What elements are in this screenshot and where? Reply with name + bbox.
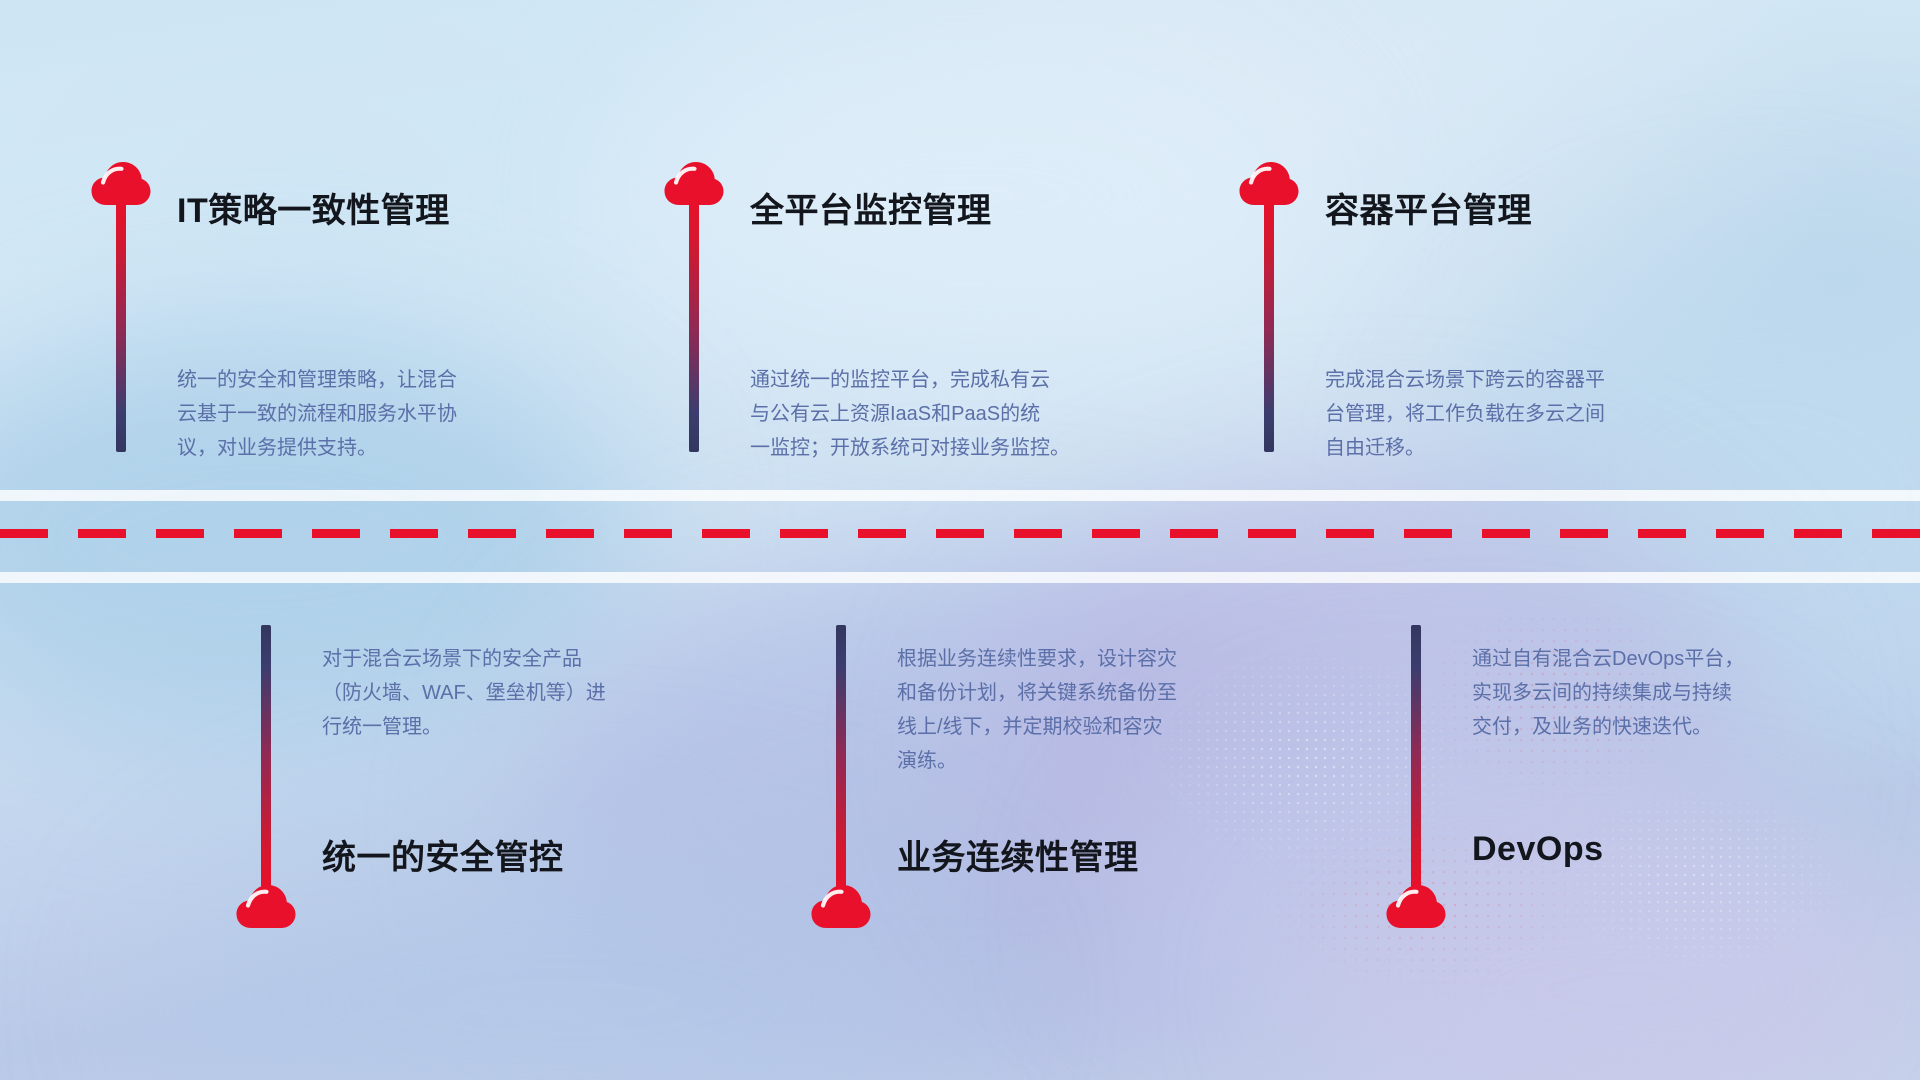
timeline-stem [1264,202,1274,452]
cloud-icon [1238,160,1300,206]
timeline-stem [261,625,271,890]
timeline-item-title: 业务连续性管理 [897,830,1139,879]
timeline-item-title: DevOps [1472,830,1604,869]
cloud-icon [663,160,725,206]
timeline-stem [1411,625,1421,890]
timeline-item-title: IT策略一致性管理 [177,183,450,232]
timeline-stem [116,202,126,452]
timeline-item-body: 通过统一的监控平台，完成私有云 与公有云上资源IaaS和PaaS的统 一监控；开… [750,363,1150,465]
timeline-stem [689,202,699,452]
timeline-item-title: 统一的安全管控 [322,830,564,879]
cloud-icon [235,883,297,929]
divider-band-lower [0,572,1920,583]
timeline-item-body: 对于混合云场景下的安全产品 （防火墙、WAF、堡垒机等）进 行统一管理。 [322,642,732,744]
cloud-icon [90,160,152,206]
infographic-canvas: IT策略一致性管理 统一的安全和管理策略，让混合 云基于一致的流程和服务水平协 … [0,0,1920,1080]
timeline-item-body: 通过自有混合云DevOps平台， 实现多云间的持续集成与持续 交付，及业务的快速… [1472,642,1872,744]
timeline-item-body: 根据业务连续性要求，设计容灾 和备份计划，将关键系统备份至 线上/线下，并定期校… [897,642,1307,778]
timeline-item-body: 完成混合云场景下跨云的容器平 台管理，将工作负载在多云之间 自由迁移。 [1325,363,1685,465]
cloud-icon [810,883,872,929]
timeline-item-title: 容器平台管理 [1325,183,1532,232]
timeline-stem [836,625,846,890]
timeline-item-body: 统一的安全和管理策略，让混合 云基于一致的流程和服务水平协 议，对业务提供支持。 [177,363,537,465]
timeline-item-title: 全平台监控管理 [750,183,992,232]
divider-dashed-line [0,529,1920,538]
cloud-icon [1385,883,1447,929]
divider-band-upper [0,490,1920,501]
